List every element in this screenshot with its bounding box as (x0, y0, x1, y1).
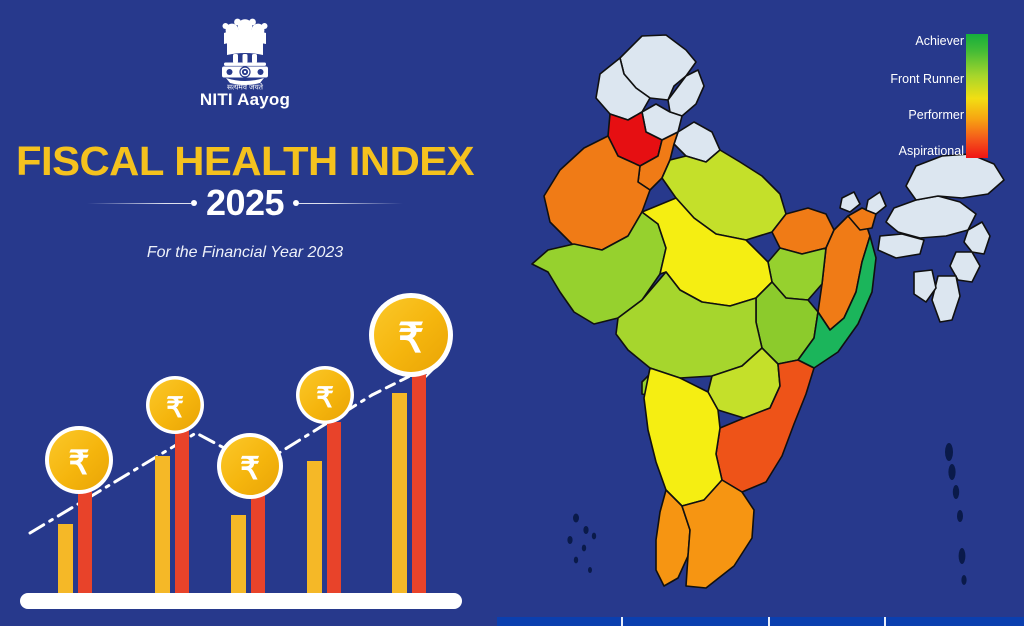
bar-group-3: ₹ (217, 433, 294, 596)
legend-item-aspirational[interactable]: Aspirational (836, 142, 986, 160)
ashoka-lion-capital-emblem-icon: सत्यमेव जयते (189, 12, 301, 90)
growth-bar-chart: ₹ ₹ (0, 288, 490, 626)
coin-4: ₹ (296, 366, 364, 433)
legend-label-achiever: Achiever (915, 35, 964, 48)
left-panel: सत्यमेव जयते NITI Aayog FISCAL HEALTH IN… (0, 0, 490, 626)
title-rule-right (299, 203, 403, 204)
chart-baseline (20, 593, 462, 609)
region-assam (886, 196, 976, 238)
bar-yellow-1 (58, 524, 73, 596)
bar-yellow-3 (231, 515, 246, 596)
svg-text:₹: ₹ (69, 444, 90, 481)
bar-red-4 (327, 422, 341, 596)
coin-5: ₹ (369, 293, 467, 390)
niti-aayog-logo: सत्यमेव जयते NITI Aayog (189, 12, 301, 108)
title-subtitle: For the Financial Year 2023 (0, 245, 490, 261)
region-lakshadweep (567, 514, 596, 574)
strip-divider (768, 617, 770, 626)
map-legend: Achiever Front Runner Performer Aspirati… (836, 32, 1016, 167)
svg-text:₹: ₹ (240, 451, 260, 486)
legend-gradient-bar (966, 34, 988, 158)
coin-2: ₹ (146, 376, 214, 443)
bar-group-5: ₹ (369, 293, 467, 596)
bar-yellow-2 (155, 456, 170, 596)
infographic-canvas: सत्यमेव जयते NITI Aayog FISCAL HEALTH IN… (0, 0, 1024, 626)
page-title: FISCAL HEALTH INDEX (0, 141, 495, 182)
coin-3: ₹ (217, 433, 294, 509)
region-mizoram (932, 276, 960, 322)
title-year-row: 2025 (0, 185, 490, 221)
legend-label-performer: Performer (908, 109, 964, 122)
bar-group-2: ₹ (146, 376, 214, 596)
bar-group-4: ₹ (296, 366, 364, 596)
region-north-bengal-tip (866, 192, 886, 214)
bar-yellow-4 (307, 461, 322, 596)
svg-text:₹: ₹ (316, 382, 334, 413)
title-rule-left (87, 203, 191, 204)
region-sikkim (840, 192, 860, 212)
coin-1: ₹ (45, 426, 124, 504)
strip-divider (884, 617, 886, 626)
legend-label-aspirational: Aspirational (899, 145, 964, 158)
legend-item-front-runner[interactable]: Front Runner (836, 70, 986, 88)
bar-yellow-5 (392, 393, 407, 596)
bar-group-1: ₹ (45, 426, 124, 596)
bottom-table-strip (497, 617, 1024, 626)
logo-organisation-name: NITI Aayog (189, 91, 301, 108)
legend-item-performer[interactable]: Performer (836, 106, 986, 124)
emblem-motto: सत्यमेव जयते (227, 83, 264, 91)
legend-label-front-runner: Front Runner (890, 73, 964, 86)
strip-divider (621, 617, 623, 626)
region-meghalaya (878, 234, 924, 258)
region-andaman-nicobar (945, 443, 967, 585)
svg-text:₹: ₹ (398, 315, 424, 361)
legend-item-achiever[interactable]: Achiever (836, 32, 986, 50)
svg-text:₹: ₹ (166, 392, 184, 423)
title-year: 2025 (197, 185, 293, 221)
